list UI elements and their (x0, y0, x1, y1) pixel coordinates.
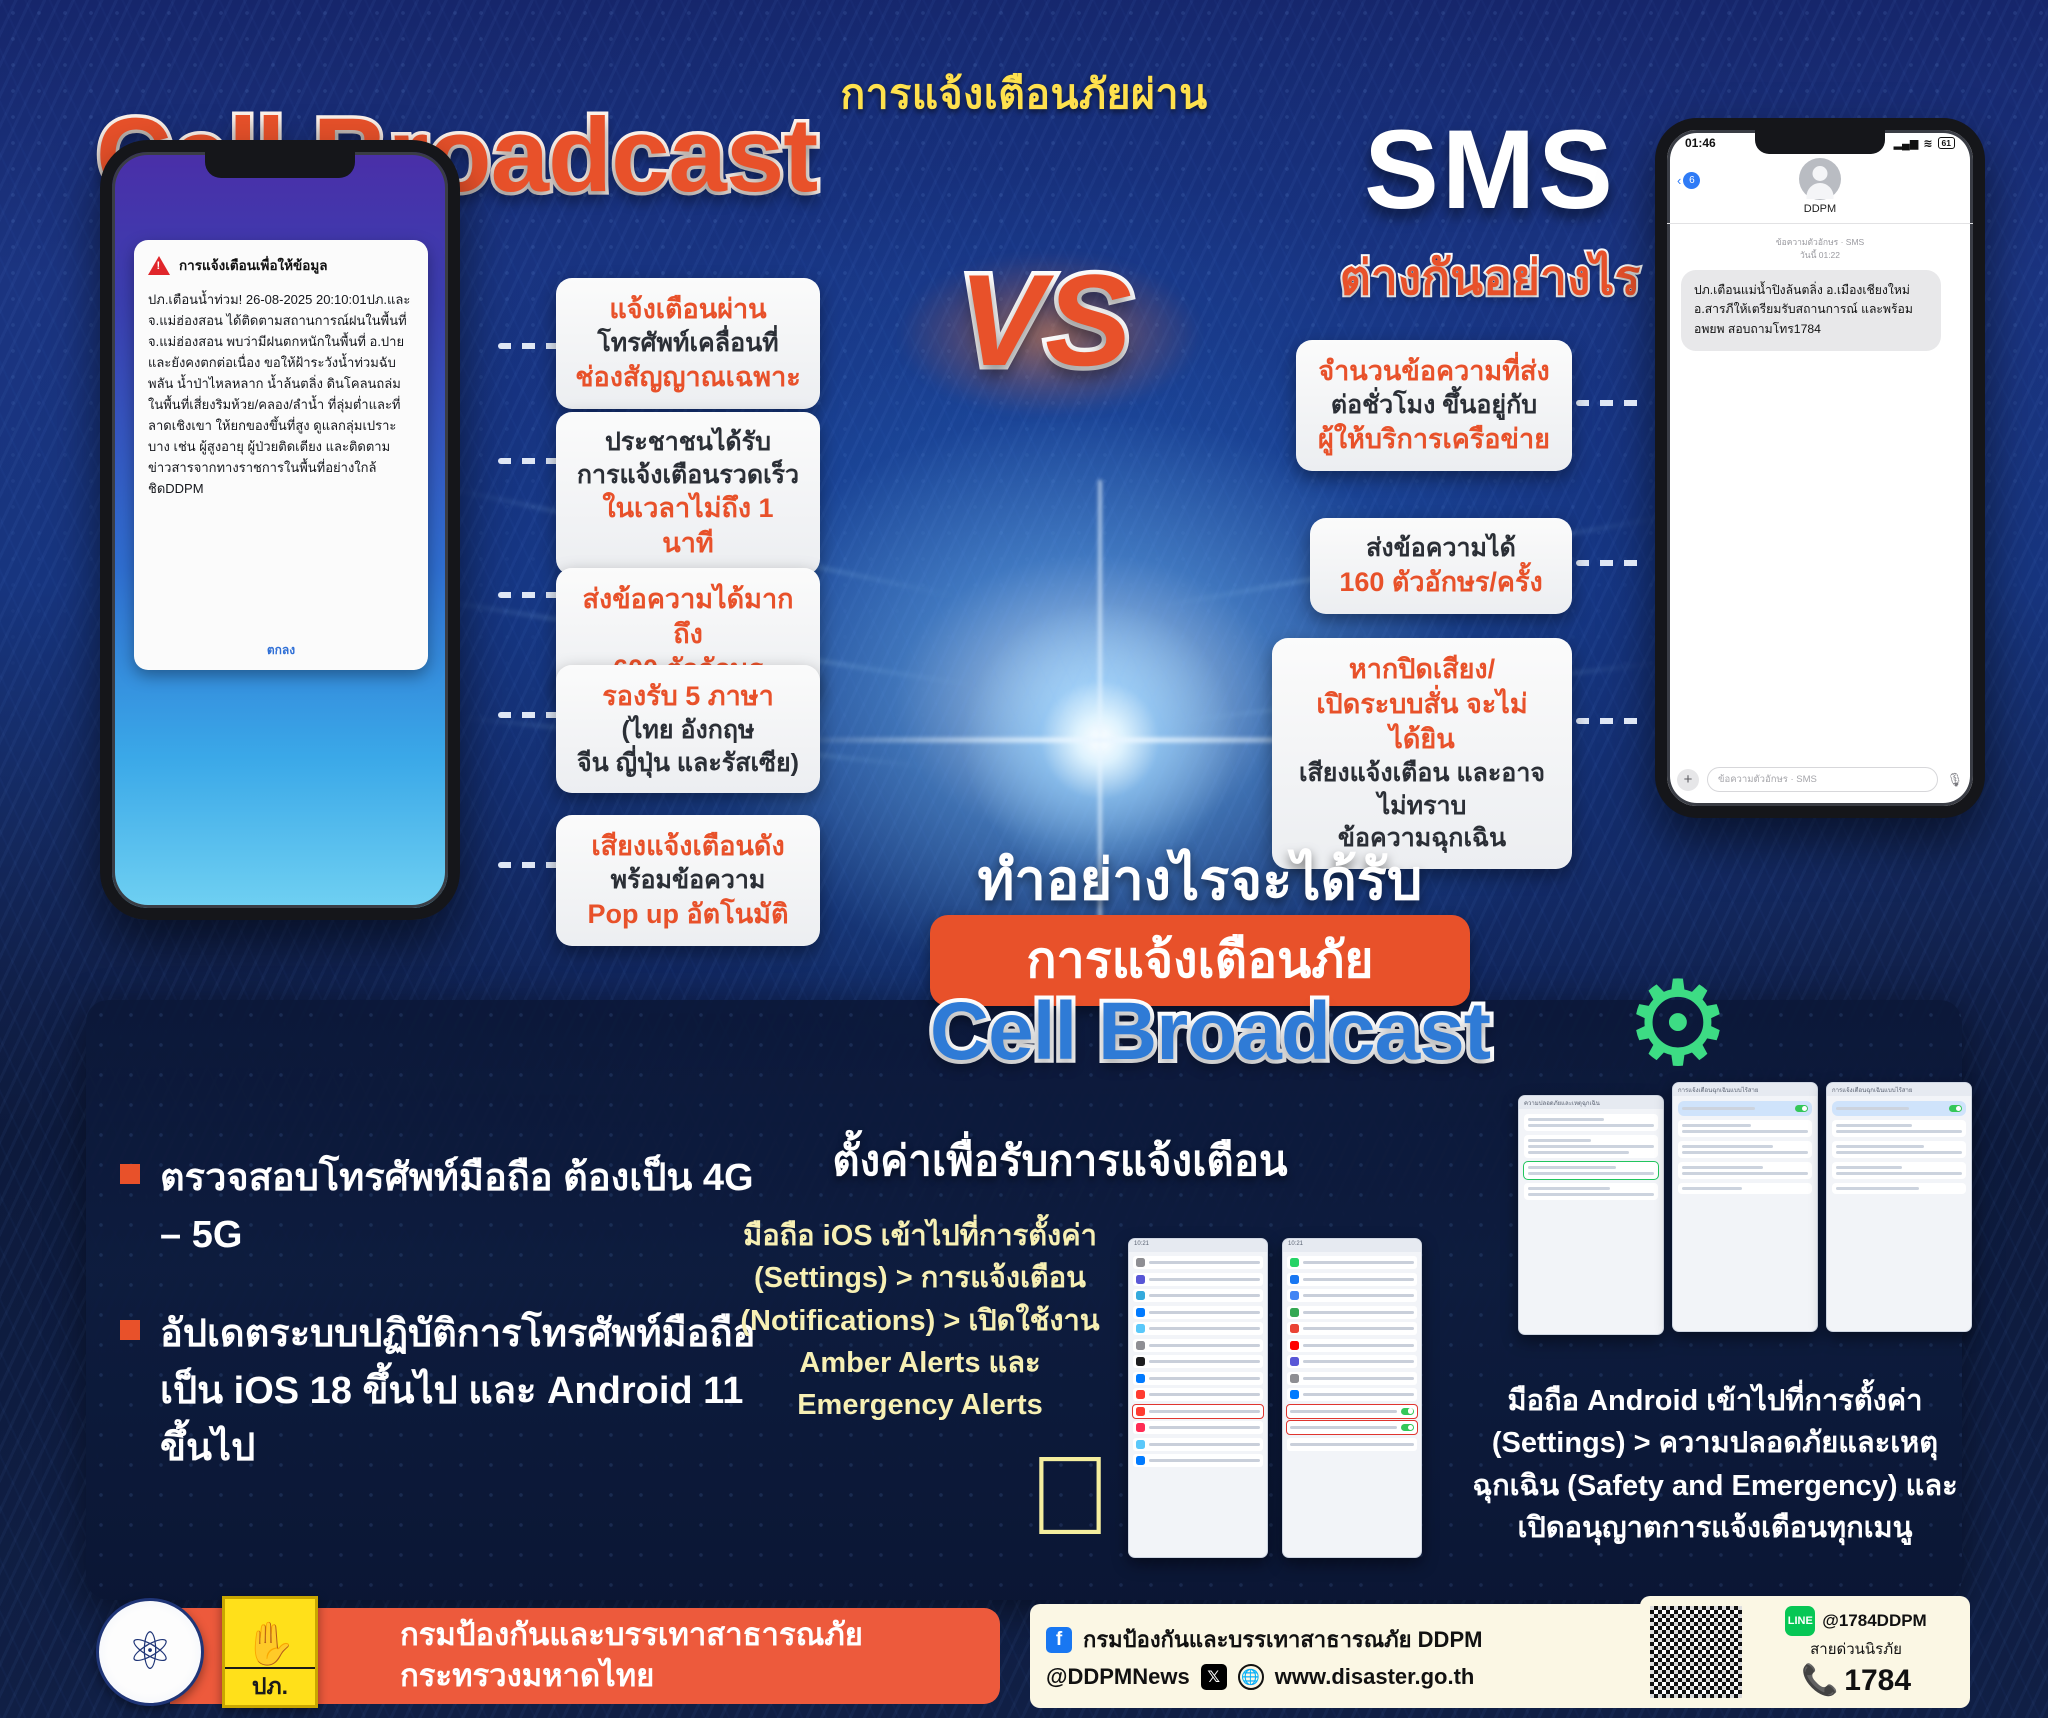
cb-feature-box-4: รองรับ 5 ภาษา (ไทย อังกฤษ จีน ญี่ปุ่น แล… (556, 665, 820, 793)
app-icon (1290, 1357, 1299, 1366)
row-label (1682, 1107, 1755, 1110)
settings-row (1133, 1289, 1263, 1302)
settings-row-emergency-alerts[interactable] (1287, 1421, 1417, 1434)
status-time: 01:46 (1685, 136, 1716, 150)
row-label (1303, 1294, 1414, 1297)
cb-feature-1-line3: ช่องสัญญาณเฉพาะ (574, 360, 802, 395)
bullet-text: อัปเดตระบบปฏิบัติการโทรศัพท์มือถือ เป็น … (160, 1306, 760, 1477)
settings-group (1832, 1120, 1966, 1137)
connector-dash (498, 592, 564, 598)
alert-body: ปภ.เตือนน้ำท่วม! 26-08-2025 20:10:01ปภ.แ… (148, 289, 414, 499)
app-icon (1136, 1357, 1145, 1366)
settings-row (1287, 1438, 1417, 1451)
vs-label: VS (930, 245, 1160, 395)
app-icon (1136, 1390, 1145, 1399)
row-label (1149, 1294, 1260, 1297)
ios-settings-screenshot-1: 10:21 (1128, 1238, 1268, 1558)
row-label (1149, 1278, 1260, 1281)
phone-mockup-sms: 01:46 ▂▄▆ ≋ 61 ‹ 6 DDPM ข้อความตัวอักษร … (1655, 118, 1985, 818)
row-label (1682, 1187, 1742, 1190)
android-robot-icon: ⚙ (1625, 965, 1731, 1083)
phone-notch (205, 152, 355, 178)
sms-feature-box-2: ส่งข้อความได้ 160 ตัวอักษร/ครั้ง (1310, 518, 1572, 614)
cb-feature-4-line2: (ไทย อังกฤษ (574, 714, 802, 747)
org-text: กรมป้องกันและบรรเทาสาธารณภัย กระทรวงมหาด… (400, 1615, 863, 1697)
connector-dash (498, 458, 564, 464)
facebook-icon: f (1046, 1627, 1072, 1653)
settings-group (1678, 1141, 1812, 1158)
app-icon (1290, 1374, 1299, 1383)
android-instructions: มือถือ Android เข้าไปที่การตั้งค่า (Sett… (1455, 1380, 1975, 1549)
row-label (1836, 1151, 1962, 1154)
conversation-header: ‹ 6 DDPM (1667, 150, 1973, 224)
connector-dash (498, 343, 564, 349)
footer-contact-panel: LINE @1784DDPM สายด่วนนิรภัย 📞 1784 (1640, 1596, 1970, 1708)
android-settings-screenshot-1: ความปลอดภัยและเหตุฉุกเฉิน (1518, 1095, 1664, 1335)
alerts-toggle[interactable] (1949, 1105, 1962, 1112)
row-label (1149, 1311, 1260, 1314)
settings-group (1832, 1162, 1966, 1179)
app-icon (1290, 1390, 1299, 1399)
globe-icon: 🌐 (1238, 1664, 1264, 1690)
signal-icon: ▂▄▆ (1894, 137, 1919, 150)
settings-row (1133, 1372, 1263, 1385)
app-icon (1290, 1275, 1299, 1284)
settings-row (1287, 1256, 1417, 1269)
row-label (1149, 1377, 1260, 1380)
avatar (1799, 158, 1841, 200)
settings-row (1287, 1273, 1417, 1286)
sms-feature-3-line1: หากปิดเสียง/ (1290, 652, 1554, 687)
row-label (1528, 1193, 1654, 1196)
app-icon (1290, 1258, 1299, 1267)
hotline-label: สายด่วนนิรภัย (1752, 1637, 1960, 1661)
settings-heading: ตั้งค่าเพื่อรับการแจ้งเตือน (700, 1128, 1420, 1194)
line-app-icon: LINE (1785, 1606, 1815, 1636)
screenshot-status-bar: 10:21 (1129, 1239, 1267, 1252)
app-icon (1290, 1291, 1299, 1300)
sms-feature-3-line3: เสียงแจ้งเตือน และอาจไม่ทราบ (1290, 757, 1554, 822)
app-icon (1136, 1258, 1145, 1267)
bullet-text: ตรวจสอบโทรศัพท์มือถือ ต้องเป็น 4G – 5G (160, 1150, 760, 1264)
settings-row (1133, 1355, 1263, 1368)
row-label (1682, 1130, 1808, 1133)
app-icon (1136, 1341, 1145, 1350)
settings-row (1287, 1306, 1417, 1319)
app-icon (1136, 1291, 1145, 1300)
row-label (1528, 1118, 1604, 1121)
row-label (1836, 1172, 1962, 1175)
x-handle-label: @DDPMNews (1046, 1664, 1190, 1690)
bullet-square-icon (120, 1164, 140, 1184)
app-icon (1136, 1374, 1145, 1383)
cb-feature-1-line1: แจ้งเตือนผ่าน (574, 292, 802, 327)
row-label (1303, 1360, 1414, 1363)
android-settings-screenshot-2: การแจ้งเตือนฉุกเฉินแบบไร้สาย (1672, 1082, 1818, 1332)
back-button[interactable]: ‹ 6 (1677, 172, 1700, 189)
settings-group-highlighted[interactable] (1524, 1162, 1658, 1179)
settings-group (1678, 1120, 1812, 1137)
row-label (1836, 1130, 1962, 1133)
row-label (1149, 1426, 1260, 1429)
cb-feature-box-5: เสียงแจ้งเตือนดัง พร้อมข้อความ Pop up อั… (556, 815, 820, 946)
amber-alerts-toggle[interactable] (1401, 1408, 1414, 1415)
unread-badge: 6 (1683, 172, 1700, 189)
alerts-toggle-row[interactable] (1832, 1101, 1966, 1116)
row-label (1836, 1107, 1909, 1110)
connector-dash (1576, 400, 1642, 406)
row-label (1836, 1166, 1902, 1169)
app-icon (1136, 1275, 1145, 1284)
alerts-toggle-row[interactable] (1678, 1101, 1812, 1116)
infographic-poster: การแจ้งเตือนภัยผ่าน Cell Broadcast SMS ต… (0, 0, 2048, 1718)
row-label (1528, 1172, 1654, 1175)
hotline-number: 1784 (1844, 1664, 1911, 1698)
sms-feature-1-line1: จำนวนข้อความที่ส่ง (1314, 354, 1554, 389)
settings-row (1133, 1306, 1263, 1319)
row-label (1303, 1393, 1414, 1396)
app-icon (1136, 1440, 1145, 1449)
cb-feature-box-1: แจ้งเตือนผ่าน โทรศัพท์เคลื่อนที่ ช่องสัญ… (556, 278, 820, 409)
how-to-heading: ทำอย่างไรจะได้รับ (860, 835, 1540, 924)
alerts-toggle[interactable] (1795, 1105, 1808, 1112)
sms-feature-2-line2: 160 ตัวอักษร/ครั้ง (1328, 565, 1554, 600)
phone-icon: 📞 (1801, 1663, 1838, 1698)
row-label (1528, 1124, 1654, 1127)
row-label (1836, 1145, 1924, 1148)
garuda-seal-icon: ⚛ (96, 1598, 204, 1706)
list-item: ตรวจสอบโทรศัพท์มือถือ ต้องเป็น 4G – 5G (120, 1150, 760, 1264)
list-item: อัปเดตระบบปฏิบัติการโทรศัพท์มือถือ เป็น … (120, 1306, 760, 1477)
chevron-left-icon: ‹ (1677, 173, 1681, 188)
settings-group (1524, 1135, 1658, 1158)
row-label (1682, 1145, 1773, 1148)
settings-row (1133, 1273, 1263, 1286)
row-label (1149, 1459, 1260, 1462)
settings-row-amber-alerts[interactable] (1287, 1405, 1417, 1418)
bullet-square-icon (120, 1320, 140, 1340)
row-label (1149, 1344, 1260, 1347)
row-label (1290, 1443, 1414, 1446)
row-label (1303, 1377, 1414, 1380)
settings-group (1678, 1183, 1812, 1194)
ddpm-logo: ✋ ปภ. (222, 1596, 318, 1708)
cb-feature-2-line3: ในเวลาไม่ถึง 1 นาที (574, 491, 802, 561)
cb-feature-4-line1: รองรับ 5 ภาษา (574, 679, 802, 714)
social-links-row[interactable]: @DDPMNews 𝕏 🌐 www.disaster.go.th (1046, 1664, 1654, 1690)
row-label (1528, 1145, 1654, 1148)
battery-icon: 61 (1938, 137, 1955, 149)
sms-feature-1-line2: ต่อชั่วโมง ขึ้นอยู่กับ (1314, 389, 1554, 422)
message-input[interactable]: ข้อความตัวอักษร · SMS (1707, 767, 1938, 792)
row-label (1303, 1311, 1414, 1314)
contact-name[interactable]: DDPM (1667, 203, 1973, 215)
warning-triangle-icon (148, 256, 170, 275)
settings-row (1133, 1438, 1263, 1451)
row-label (1682, 1124, 1751, 1127)
alert-title: การแจ้งเตือนเพื่อให้ข้อมูล (179, 254, 328, 276)
sms-feature-1-line3: ผู้ให้บริการเครือข่าย (1314, 422, 1554, 457)
cb-feature-2-line2: การแจ้งเตือนรวดเร็ว (574, 459, 802, 492)
row-label (1682, 1172, 1808, 1175)
requirements-list: ตรวจสอบโทรศัพท์มือถือ ต้องเป็น 4G – 5G อ… (120, 1150, 760, 1519)
app-icon (1136, 1423, 1145, 1432)
row-label (1149, 1261, 1260, 1264)
connector-dash (1576, 718, 1642, 724)
screenshot-status-bar: การแจ้งเตือนฉุกเฉินแบบไร้สาย (1673, 1083, 1817, 1096)
row-label (1528, 1166, 1616, 1169)
screenshot-status-bar: การแจ้งเตือนฉุกเฉินแบบไร้สาย (1827, 1083, 1971, 1096)
sms-message-bubble: ปภ.เตือนแม่น้ำปิงล้นตลิ่ง อ.เมืองเชียงให… (1681, 270, 1941, 351)
microphone-icon[interactable]: 🎙 (1946, 772, 1963, 788)
settings-row-notifications[interactable] (1133, 1405, 1263, 1418)
settings-row (1287, 1322, 1417, 1335)
hand-shield-icon: ✋ (244, 1623, 296, 1665)
cb-feature-5-line1: เสียงแจ้งเตือนดัง (574, 829, 802, 864)
row-label (1303, 1261, 1414, 1264)
footer-social-panel: f กรมป้องกันและบรรเทาสาธารณภัย DDPM @DDP… (1030, 1604, 1670, 1708)
x-twitter-icon[interactable]: 𝕏 (1201, 1664, 1227, 1690)
cb-feature-5-line3: Pop up อัตโนมัติ (574, 897, 802, 932)
screenshot-status-bar: 10:21 (1283, 1239, 1421, 1252)
row-label-emergency-alerts (1290, 1426, 1397, 1429)
app-icon (1290, 1341, 1299, 1350)
message-meta: ข้อความตัวอักษร · SMS วันนี้ 01:22 (1667, 236, 1973, 262)
row-label (1836, 1124, 1912, 1127)
settings-row (1287, 1339, 1417, 1352)
settings-row (1287, 1372, 1417, 1385)
row-label (1303, 1278, 1414, 1281)
status-indicators: ▂▄▆ ≋ 61 (1894, 137, 1955, 150)
cb-feature-1-line2: โทรศัพท์เคลื่อนที่ (574, 327, 802, 360)
ios-settings-screenshot-2: 10:21 (1282, 1238, 1422, 1558)
settings-group (1524, 1114, 1658, 1131)
line-row[interactable]: LINE @1784DDPM (1752, 1606, 1960, 1636)
apple-logo-icon:  (1028, 1440, 1112, 1552)
settings-row (1133, 1256, 1263, 1269)
org-line-1: กรมป้องกันและบรรเทาสาธารณภัย (400, 1615, 863, 1656)
alert-ok-button[interactable]: ตกลง (134, 641, 428, 660)
row-label (1149, 1443, 1260, 1446)
cb-feature-2-line1: ประชาชนได้รับ (574, 426, 802, 459)
settings-row (1287, 1355, 1417, 1368)
website-label[interactable]: www.disaster.go.th (1275, 1664, 1475, 1690)
settings-row (1133, 1322, 1263, 1335)
app-icon (1136, 1324, 1145, 1333)
android-settings-screenshot-3: การแจ้งเตือนฉุกเฉินแบบไร้สาย (1826, 1082, 1972, 1332)
row-label (1303, 1344, 1414, 1347)
settings-row (1287, 1388, 1417, 1401)
row-label-amber-alerts (1290, 1410, 1397, 1413)
sms-feature-2-line1: ส่งข้อความได้ (1328, 532, 1554, 565)
row-label (1149, 1410, 1260, 1413)
ios-instructions: มือถือ iOS เข้าไปที่การตั้งค่า (Settings… (720, 1215, 1120, 1427)
facebook-row[interactable]: f กรมป้องกันและบรรเทาสาธารณภัย DDPM (1046, 1622, 1654, 1657)
app-icon (1136, 1456, 1145, 1465)
contact-text: LINE @1784DDPM สายด่วนนิรภัย 📞 1784 (1752, 1606, 1960, 1698)
row-label (1149, 1327, 1260, 1330)
row-label (1836, 1187, 1919, 1190)
settings-row (1287, 1289, 1417, 1302)
settings-group (1678, 1162, 1812, 1179)
row-label (1149, 1360, 1260, 1363)
sms-feature-3-line2: เปิดระบบสั่น จะไม่ได้ยิน (1290, 687, 1554, 757)
app-icon (1290, 1324, 1299, 1333)
qr-code[interactable] (1650, 1606, 1742, 1698)
settings-row (1133, 1339, 1263, 1352)
notifications-icon (1136, 1407, 1145, 1416)
settings-panel (1827, 1096, 1971, 1199)
add-attachment-icon[interactable]: + (1677, 769, 1699, 791)
emergency-alerts-toggle[interactable] (1401, 1424, 1414, 1431)
cb-feature-3-line1: ส่งข้อความได้มากถึง (574, 582, 802, 652)
settings-row (1133, 1421, 1263, 1434)
settings-rows (1129, 1252, 1267, 1471)
cell-broadcast-alert-card: การแจ้งเตือนเพื่อให้ข้อมูล ปภ.เตือนน้ำท่… (134, 240, 428, 670)
cb-feature-box-2: ประชาชนได้รับ การแจ้งเตือนรวดเร็ว ในเวลา… (556, 412, 820, 575)
connector-dash (498, 712, 564, 718)
wifi-icon: ≋ (1923, 137, 1932, 150)
settings-rows (1283, 1252, 1421, 1455)
row-label (1682, 1151, 1808, 1154)
cb-feature-5-line2: พร้อมข้อความ (574, 864, 802, 897)
ddpm-logo-label: ปภ. (225, 1667, 315, 1705)
row-label (1528, 1139, 1591, 1142)
row-label (1149, 1393, 1260, 1396)
settings-panel (1673, 1096, 1817, 1199)
row-label (1682, 1166, 1763, 1169)
connector-dash (498, 862, 564, 868)
message-timestamp: วันนี้ 01:22 (1667, 249, 1973, 262)
settings-row (1133, 1454, 1263, 1467)
cb-feature-4-line3: จีน ญี่ปุ่น และรัสเซีย) (574, 747, 802, 780)
sms-feature-box-1: จำนวนข้อความที่ส่ง ต่อชั่วโมง ขึ้นอยู่กั… (1296, 340, 1572, 471)
line-id-label: @1784DDPM (1822, 1611, 1926, 1631)
alert-header: การแจ้งเตือนเพื่อให้ข้อมูล (148, 254, 414, 276)
settings-group (1524, 1183, 1658, 1200)
settings-panel (1519, 1109, 1663, 1205)
message-type: ข้อความตัวอักษร · SMS (1667, 236, 1973, 249)
phone-mockup-cell-broadcast: การแจ้งเตือนเพื่อให้ข้อมูล ปภ.เตือนน้ำท่… (100, 140, 460, 920)
app-icon (1290, 1308, 1299, 1317)
cell-broadcast-heading-2: Cell Broadcast (760, 985, 1660, 1079)
settings-group (1832, 1141, 1966, 1158)
connector-dash (1576, 560, 1642, 566)
settings-row (1133, 1388, 1263, 1401)
row-label (1303, 1327, 1414, 1330)
org-line-2: กระทรวงมหาดไทย (400, 1656, 863, 1697)
screenshot-status-bar: ความปลอดภัยและเหตุฉุกเฉิน (1519, 1096, 1663, 1109)
app-icon (1136, 1308, 1145, 1317)
row-label (1528, 1187, 1610, 1190)
message-compose-bar[interactable]: + ข้อความตัวอักษร · SMS 🎙 (1677, 767, 1963, 792)
facebook-label: กรมป้องกันและบรรเทาสาธารณภัย DDPM (1083, 1622, 1482, 1657)
row-label (1528, 1151, 1629, 1154)
hotline-row: 📞 1784 (1752, 1663, 1960, 1698)
settings-group (1832, 1183, 1966, 1194)
